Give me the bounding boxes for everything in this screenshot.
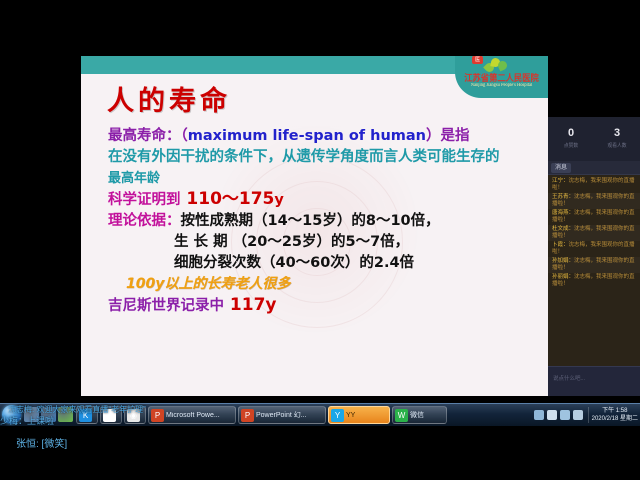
system-tray[interactable]: 下午 1:58 2020/2/18 星期二 <box>534 404 640 426</box>
logo-english-name: Nanjing Jiangsu People's Hospital <box>460 83 544 88</box>
slide-text-segment: 细胞分裂次数（40～60次）的2.4倍 <box>174 255 414 271</box>
chat-message-author: 王苏青： <box>552 194 574 200</box>
chat-stat-value: 3 <box>594 127 640 139</box>
taskbar-window-button[interactable]: PPowerPoint 幻... <box>238 406 326 424</box>
network-icon[interactable] <box>534 410 544 420</box>
taskbar-app-icon: P <box>241 409 254 422</box>
taskbar-app-label: 微信 <box>410 410 424 420</box>
chat-message[interactable]: 孙丽娟：沈志梅，我来围观你的直播啦！ <box>548 273 640 289</box>
slide-line-l3: 最高年龄 <box>108 168 538 189</box>
chat-message-author: 孙丽娟： <box>552 274 574 280</box>
clock-date: 2020/2/18 星期二 <box>592 415 638 423</box>
chat-stat-label: 观看人数 <box>595 142 639 151</box>
chat-message[interactable]: 孙加娟：沈志梅，我来围观你的直播啦！ <box>548 257 640 273</box>
taskbar-app-icon: W <box>395 409 408 422</box>
chat-message[interactable]: 杜文成：沈志梅，我来围观你的直播啦！ <box>548 225 640 241</box>
chat-message[interactable]: 王苏青：沈志梅，我来围观你的直播啦！ <box>548 193 640 209</box>
slide-text-segment: 生 长 期 （20～25岁）的5～7倍， <box>174 234 409 250</box>
slide-text-segment: y <box>274 192 283 208</box>
slide-line-l1: 最高寿命：（maximum life-span of human）是指 <box>108 126 538 147</box>
volume-icon[interactable] <box>547 410 557 420</box>
slide-line-l8: 100y以上的长寿老人很多 <box>108 274 538 295</box>
slide-line-l4: 科学证明到 110～175y <box>108 189 538 211</box>
chat-message-list[interactable]: 江宁：沈志梅，我来围观你的直播啦！王苏青：沈志梅，我来围观你的直播啦！唐海燕：沈… <box>548 175 640 367</box>
chat-message[interactable]: 江宁：沈志梅，我来围观你的直播啦！ <box>548 177 640 193</box>
slide-text-segment: ）是指 <box>426 128 470 144</box>
taskbar-app-label: PowerPoint 幻... <box>256 410 307 420</box>
slide-text-segment: 按性成熟期（14～15岁）的8～10倍， <box>181 213 440 229</box>
slide-text-segment: 吉尼斯世界记录中 <box>108 298 224 314</box>
chat-input-box[interactable]: 说点什么吧... <box>548 366 640 396</box>
slide-body-text: 最高寿命：（maximum life-span of human）是指在没有外因… <box>108 126 538 317</box>
slide-text-segment: 100y以上的长寿老人很多 <box>126 276 290 292</box>
show-hidden-icons[interactable] <box>573 410 583 420</box>
overlay-chat-mid: 少梅：上课啦 <box>0 414 54 427</box>
powerpoint-slide[interactable]: 医 江苏省第二人民医院 Nanjing Jiangsu People's Hos… <box>81 56 548 396</box>
chat-message-author: 孙加娟： <box>552 258 574 264</box>
taskbar-app-label: Microsoft Powe... <box>166 412 220 419</box>
tab-messages[interactable]: 消息 <box>551 163 571 173</box>
slide-line-l2: 在没有外因干扰的条件下，从遗传学角度而言人类可能生存的 <box>108 147 538 168</box>
chat-stat: 3观看人数 <box>594 121 640 159</box>
overlay-chat-bottom: 张恒: [微笑] <box>16 435 67 450</box>
clock-time: 下午 1:58 <box>592 407 638 415</box>
slide-text-segment: 117y <box>224 295 277 315</box>
taskbar-window-button[interactable]: W微信 <box>392 406 447 424</box>
live-chat-panel[interactable]: 0点赞数3观看人数 消息 江宁：沈志梅，我来围观你的直播啦！王苏青：沈志梅，我来… <box>548 117 640 396</box>
slide-line-l7: 细胞分裂次数（40～60次）的2.4倍 <box>108 253 538 274</box>
slide-title: 人的寿命 <box>107 79 231 118</box>
logo-badge: 医 <box>472 56 483 64</box>
slide-line-l6: 生 长 期 （20～25岁）的5～7倍， <box>108 232 538 253</box>
slide-text-segment: 理论依据： <box>108 213 181 229</box>
chat-stat: 0点赞数 <box>548 121 594 159</box>
taskbar-app-icon: Y <box>331 409 344 422</box>
taskbar-clock[interactable]: 下午 1:58 2020/2/18 星期二 <box>588 407 638 423</box>
taskbar-app-label: YY <box>346 412 355 419</box>
hospital-logo: 医 江苏省第二人民医院 Nanjing Jiangsu People's Hos… <box>455 56 548 98</box>
slide-line-l5: 理论依据：按性成熟期（14～15岁）的8～10倍， <box>108 211 538 232</box>
slide-text-segment: 在没有外因干扰的条件下，从遗传学角度而言人类可能生存的 <box>108 149 500 165</box>
chat-stat-value: 0 <box>548 127 594 139</box>
slide-text-segment: maximum life-span of human <box>188 128 426 144</box>
chat-stat-label: 点赞数 <box>549 142 593 151</box>
slide-text-segment: 最高年龄 <box>108 171 160 186</box>
desktop-screen: 医 江苏省第二人民医院 Nanjing Jiangsu People's Hos… <box>0 0 640 480</box>
chat-input-placeholder: 说点什么吧... <box>553 374 585 382</box>
chat-message[interactable]: 唐海燕：沈志梅，我来围观你的直播啦！ <box>548 209 640 225</box>
chat-message-author: 唐海燕： <box>552 210 574 216</box>
taskbar-window-button[interactable]: YYY <box>328 406 390 424</box>
chat-stats-row: 0点赞数3观看人数 <box>548 121 640 159</box>
slide-text-segment: 科学证明到 <box>108 192 181 208</box>
chat-message-author: 杜文成： <box>552 226 574 232</box>
slide-text-segment: 110～175 <box>181 189 275 209</box>
taskbar-app-icon: P <box>151 409 164 422</box>
tray-icon-group[interactable] <box>534 410 586 420</box>
taskbar-window-button[interactable]: PMicrosoft Powe... <box>148 406 236 424</box>
chat-message-author: 江宁： <box>552 178 569 184</box>
chat-message[interactable]: 卜霞：沈志梅，我来围观你的直播啦！ <box>548 241 640 257</box>
chat-tab-bar[interactable]: 消息 <box>548 161 640 175</box>
slide-line-l9: 吉尼斯世界记录中 117y <box>108 295 538 317</box>
slide-text-segment: 最高寿命：（ <box>108 128 188 144</box>
ime-icon[interactable] <box>560 410 570 420</box>
chat-message-author: 卜霞： <box>552 242 569 248</box>
